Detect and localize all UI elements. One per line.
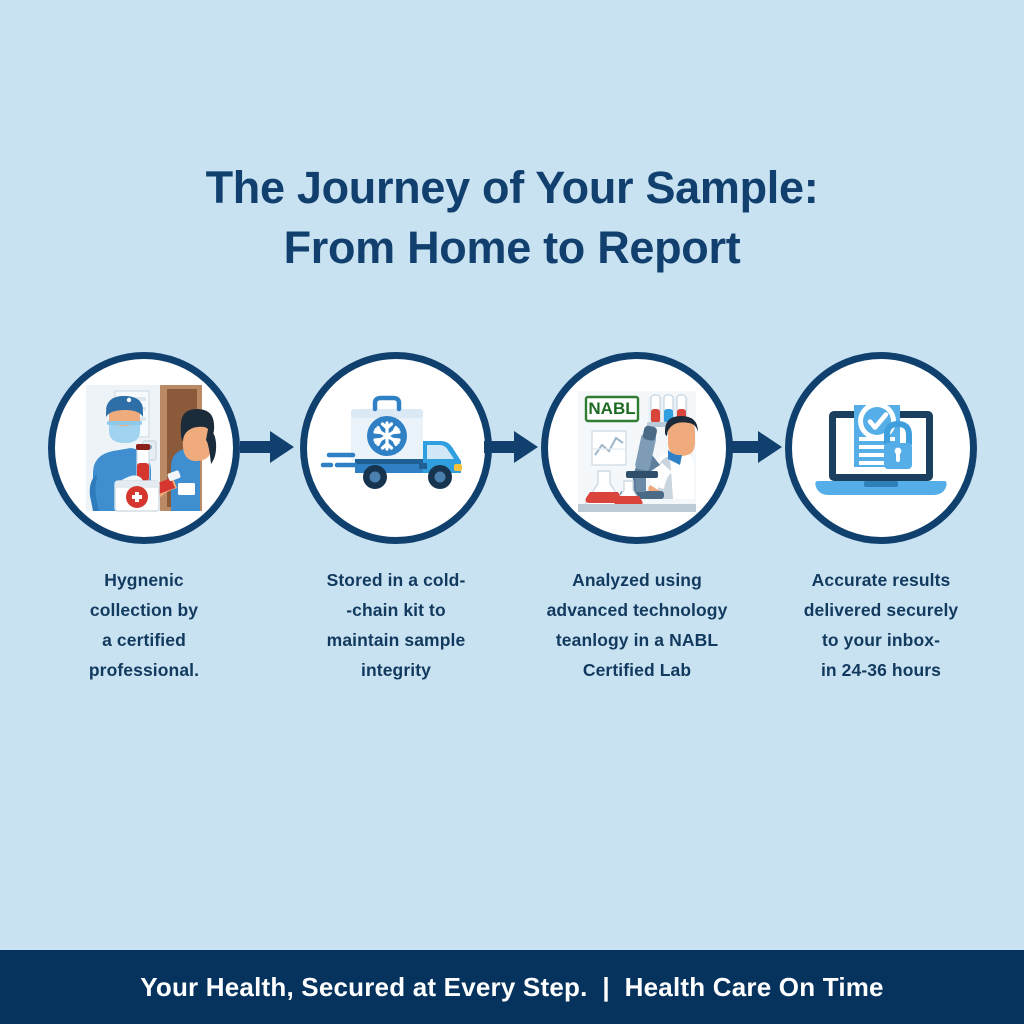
caption-line: teanlogy in a NABL (529, 625, 745, 655)
arrow-step-3-to-4 (728, 430, 782, 464)
right-arrow-icon (484, 430, 538, 464)
caption-line: delivered securely (777, 595, 985, 625)
caption-line: to your inbox- (777, 625, 985, 655)
cold-chain-delivery-truck-icon (307, 359, 485, 537)
title-line-1: The Journey of Your Sample: (0, 158, 1024, 218)
arrow-step-1-to-2 (240, 430, 294, 464)
step-collection: Hygnenic collection by a certified profe… (48, 352, 240, 685)
caption-line: in 24-36 hours (777, 655, 985, 685)
step-4-caption: Accurate results delivered securely to y… (777, 565, 985, 685)
process-steps: Hygnenic collection by a certified profe… (0, 352, 1024, 692)
caption-line: professional. (48, 655, 240, 685)
right-arrow-icon (240, 430, 294, 464)
caption-line: Hygnenic (48, 565, 240, 595)
caption-line: a certified (48, 625, 240, 655)
step-1-circle (48, 352, 240, 544)
title-line-2: From Home to Report (0, 218, 1024, 278)
caption-line: Stored in a cold- (291, 565, 501, 595)
footer-tagline: Your Health, Secured at Every Step. | He… (140, 972, 883, 1003)
footer-banner: Your Health, Secured at Every Step. | He… (0, 950, 1024, 1024)
caption-line: maintain sample (291, 625, 501, 655)
arrow-step-2-to-3 (484, 430, 538, 464)
step-4-circle (785, 352, 977, 544)
caption-line: -chain kit to (291, 595, 501, 625)
nabl-lab-microscope-icon: NABL (548, 359, 726, 537)
step-secure-report-delivery: Accurate results delivered securely to y… (785, 352, 977, 685)
infographic-poster: The Journey of Your Sample: From Home to… (0, 0, 1024, 1024)
caption-line: collection by (48, 595, 240, 625)
caption-line: Analyzed using (529, 565, 745, 595)
caption-line: Certified Lab (529, 655, 745, 685)
step-cold-chain-transport: Stored in a cold- -chain kit to maintain… (300, 352, 492, 685)
step-1-caption: Hygnenic collection by a certified profe… (48, 565, 240, 685)
caption-line: Accurate results (777, 565, 985, 595)
step-2-circle (300, 352, 492, 544)
step-2-caption: Stored in a cold- -chain kit to maintain… (291, 565, 501, 685)
right-arrow-icon (728, 430, 782, 464)
page-title: The Journey of Your Sample: From Home to… (0, 158, 1024, 278)
nabl-sign-label: NABL (588, 399, 635, 418)
step-lab-analysis: NABL (541, 352, 733, 685)
phlebotomist-blood-collection-icon (55, 359, 233, 537)
step-3-circle: NABL (541, 352, 733, 544)
caption-line: advanced technology (529, 595, 745, 625)
step-3-caption: Analyzed using advanced technology teanl… (529, 565, 745, 685)
caption-line: integrity (291, 655, 501, 685)
laptop-secure-report-icon (792, 359, 970, 537)
